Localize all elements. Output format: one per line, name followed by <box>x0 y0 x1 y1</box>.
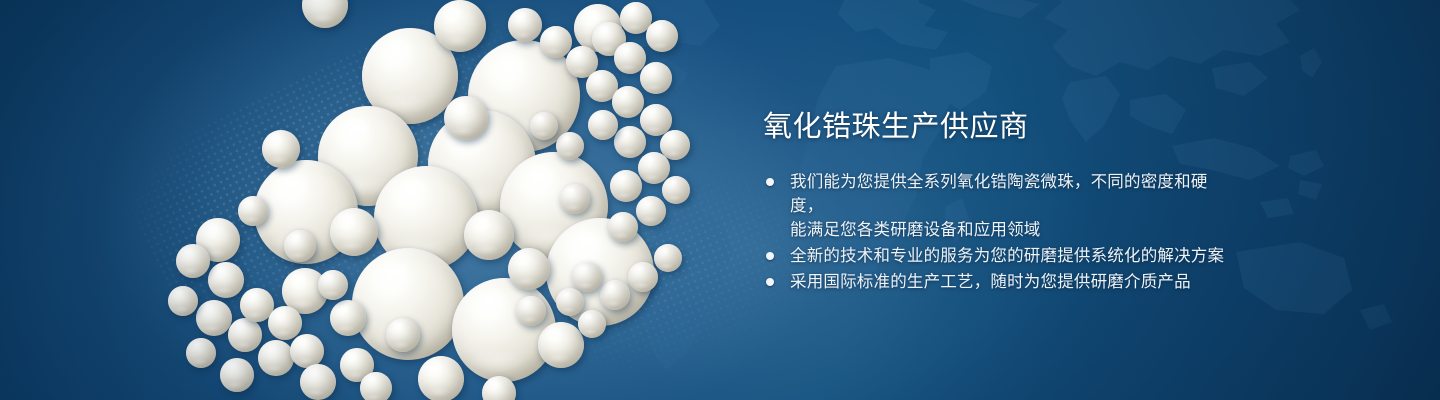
bullet-dot-icon <box>766 178 774 186</box>
bullet-dot-icon <box>766 252 774 260</box>
bullet-dot-icon <box>766 278 774 286</box>
bullet-text-line-1: 我们能为您提供全系列氧化锆陶瓷微珠，不同的密度和硬度， <box>790 173 1208 215</box>
banner-headline: 氧化锆珠生产供应商 <box>763 110 1029 144</box>
banner-content: 氧化锆珠生产供应商 我们能为您提供全系列氧化锆陶瓷微珠，不同的密度和硬度， 能满… <box>763 0 1283 400</box>
bullet-item-2: 全新的技术和专业的服务为您的研磨提供系统化的解决方案 <box>763 244 1233 268</box>
hero-banner: 氧化锆珠生产供应商 我们能为您提供全系列氧化锆陶瓷微珠，不同的密度和硬度， 能满… <box>0 0 1440 400</box>
banner-bullet-list: 我们能为您提供全系列氧化锆陶瓷微珠，不同的密度和硬度， 能满足您各类研磨设备和应… <box>763 170 1233 296</box>
bullet-item-3: 采用国际标准的生产工艺，随时为您提供研磨介质产品 <box>763 270 1233 294</box>
bullet-text-line-1: 采用国际标准的生产工艺，随时为您提供研磨介质产品 <box>790 273 1191 291</box>
bullet-item-1: 我们能为您提供全系列氧化锆陶瓷微珠，不同的密度和硬度， 能满足您各类研磨设备和应… <box>763 170 1233 242</box>
bullet-text-line-1: 全新的技术和专业的服务为您的研磨提供系统化的解决方案 <box>790 247 1224 265</box>
bullet-text-line-2: 能满足您各类研磨设备和应用领域 <box>790 218 1233 242</box>
